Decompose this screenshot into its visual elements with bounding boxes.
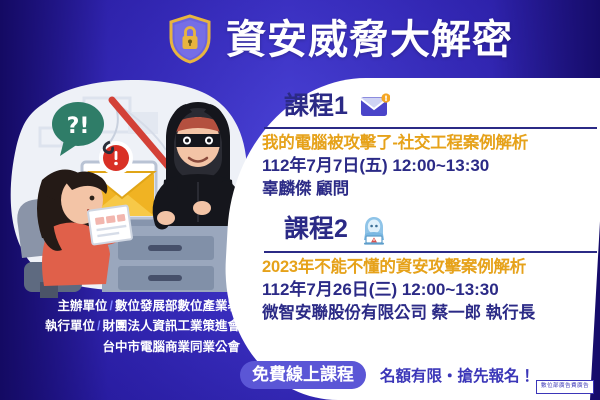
- organizer-block: 主辦單位/數位發展部數位產業署 執行單位/財團法人資訊工業策進會 台中市電腦商業…: [0, 296, 248, 357]
- organizer-row-1: 主辦單位/數位發展部數位產業署: [0, 296, 240, 316]
- courses-container: 課程1 我的電腦被攻擊了-社交工程案例解析 112年7月7日(五) 12:00~…: [248, 78, 600, 400]
- course-2-divider: [264, 251, 597, 253]
- course-1-title: 我的電腦被攻擊了-社交工程案例解析: [262, 133, 594, 155]
- course-block-1: 課程1 我的電腦被攻擊了-社交工程案例解析 112年7月7日(五) 12:00~…: [262, 88, 594, 200]
- organizer-name-2: 財團法人資訊工業策進會: [102, 319, 240, 333]
- organizer-row-2: 執行單位/財團法人資訊工業策進會: [0, 316, 240, 336]
- registration-note: 名額有限・搶先報名！: [380, 364, 535, 386]
- organizer-name-3: 台中市電腦商業同業公會: [102, 340, 240, 354]
- course-1-label: 課程1: [284, 94, 348, 119]
- course-2-speaker: 微智安聯股份有限公司 蔡一郎 執行長: [262, 302, 594, 324]
- course-2-header: 課程2: [262, 212, 594, 248]
- course-block-2: 課程2 2023年不能不懂的資安攻擊案例解析: [262, 212, 594, 324]
- svg-text:?!: ?!: [67, 114, 90, 139]
- course-1-speaker: 辜麟傑 顧問: [262, 178, 594, 200]
- hacker-laptop-icon: [360, 215, 388, 245]
- course-1-header: 課程1: [262, 88, 594, 124]
- course-1-divider: [264, 127, 597, 129]
- free-online-course-badge[interactable]: 免費線上課程: [240, 361, 366, 389]
- course-2-date: 112年7月26日(三) 12:00~13:30: [262, 279, 594, 302]
- organizer-separator-1: /: [108, 299, 115, 313]
- course-2-title: 2023年不能不懂的資安攻擊案例解析: [262, 257, 594, 279]
- organizer-role-2: 執行單位: [45, 319, 95, 333]
- organizer-row-3: 台中市電腦商業同業公會: [0, 337, 240, 357]
- organizer-role-1: 主辦單位: [57, 299, 107, 313]
- poster-root: 資安威脅大解密 ?!: [0, 0, 600, 400]
- course-2-label: 課程2: [284, 217, 348, 242]
- course-1-date: 112年7月7日(五) 12:00~13:30: [262, 155, 594, 178]
- shield-lock-icon: [168, 14, 212, 64]
- organizer-name-1: 數位發展部數位產業署: [115, 299, 240, 313]
- gov-ad-disclosure-badge: 數位部廣告費廣告: [536, 380, 594, 394]
- envelope-icon: [360, 93, 390, 119]
- page-title: 資安威脅大解密: [226, 20, 513, 60]
- poster-header: 資安威脅大解密: [0, 0, 600, 80]
- cta-bar: 免費線上課程 名額有限・搶先報名！: [240, 361, 535, 389]
- phishing-hacker-illustration: ?!: [6, 76, 252, 298]
